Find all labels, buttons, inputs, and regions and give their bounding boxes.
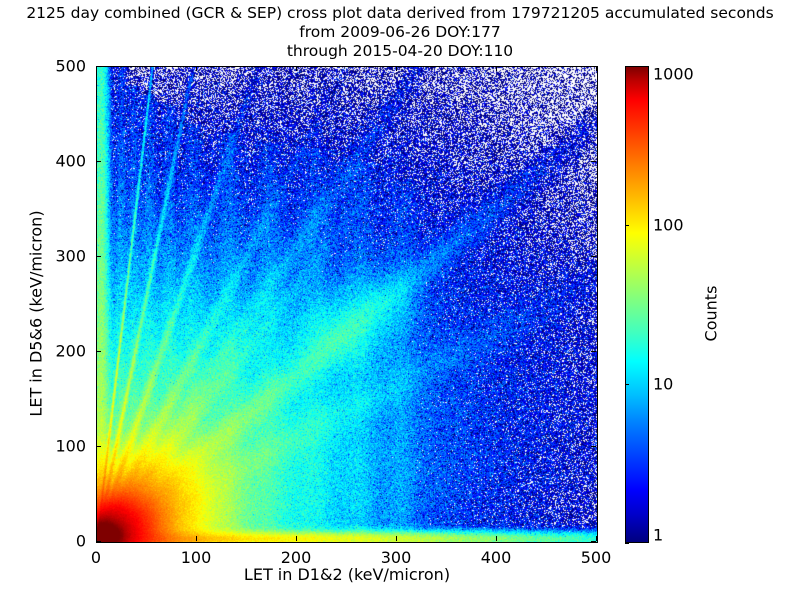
y-tick-mark-right (591, 256, 596, 257)
figure-root: 2125 day combined (GCR & SEP) cross plot… (0, 0, 800, 600)
y-tick-mark (96, 66, 101, 67)
x-tick-mark-top (296, 66, 297, 71)
y-tick-mark-right (591, 66, 596, 67)
density-heatmap-canvas (97, 67, 597, 542)
colorbar-tick-label: 10 (653, 375, 673, 394)
colorbar (625, 66, 649, 543)
y-tick-mark (96, 256, 101, 257)
y-tick-label: 100 (10, 437, 86, 456)
colorbar-tick-mark (625, 543, 629, 544)
x-tick-mark (396, 536, 397, 541)
figure-title-line-3: through 2015-04-20 DOY:110 (0, 42, 800, 60)
x-tick-mark-top (596, 66, 597, 71)
colorbar-tick-mark (625, 384, 629, 385)
x-tick-mark (196, 536, 197, 541)
y-tick-mark-right (591, 446, 596, 447)
y-tick-mark-right (591, 541, 596, 542)
y-tick-mark (96, 161, 101, 162)
plot-area (96, 66, 598, 543)
x-tick-mark-top (196, 66, 197, 71)
y-tick-mark (96, 351, 101, 352)
colorbar-gradient-jet (626, 67, 648, 542)
x-tick-mark-top (396, 66, 397, 71)
y-tick-mark (96, 541, 101, 542)
y-tick-label: 500 (10, 57, 86, 76)
figure-title-line-1: 2125 day combined (GCR & SEP) cross plot… (0, 4, 800, 22)
colorbar-tick-label: 1000 (653, 65, 694, 84)
colorbar-label: Counts (702, 174, 721, 454)
x-tick-mark (296, 536, 297, 541)
x-tick-mark (596, 536, 597, 541)
y-axis-label: LET in D5&6 (keV/micron) (27, 174, 46, 454)
figure-title-line-2: from 2009-06-26 DOY:177 (0, 23, 800, 41)
y-tick-mark-right (591, 351, 596, 352)
y-tick-label: 300 (10, 247, 86, 266)
y-tick-label: 400 (10, 152, 86, 171)
x-tick-mark-top (496, 66, 497, 71)
colorbar-tick-mark (625, 66, 629, 67)
y-tick-mark-right (591, 161, 596, 162)
colorbar-tick-label: 100 (653, 216, 684, 235)
y-tick-label: 200 (10, 342, 86, 361)
x-tick-mark (496, 536, 497, 541)
colorbar-tick-label: 1 (653, 526, 663, 545)
colorbar-tick-mark (625, 225, 629, 226)
y-tick-label: 0 (10, 532, 86, 551)
x-axis-label: LET in D1&2 (keV/micron) (96, 565, 598, 584)
y-tick-mark (96, 446, 101, 447)
